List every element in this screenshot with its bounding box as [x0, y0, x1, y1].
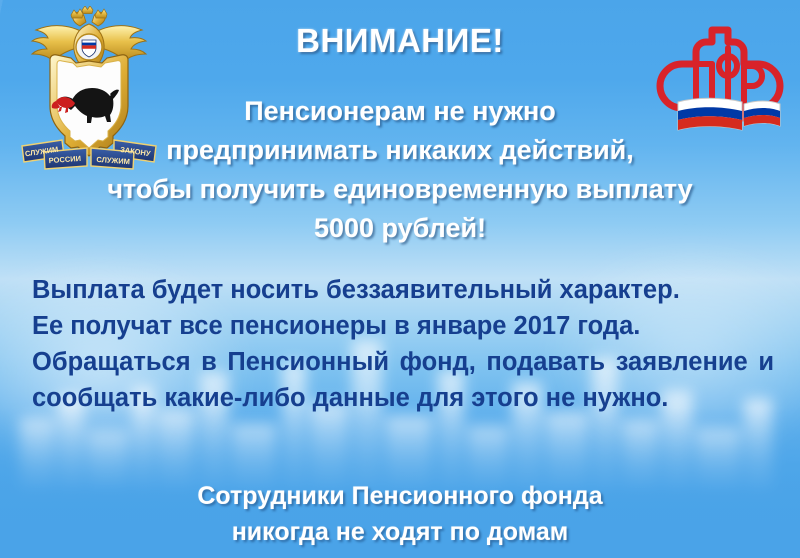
lead-line-3: чтобы получить единовременную выплату	[60, 170, 740, 209]
lead-line-1: Пенсионерам не нужно	[60, 92, 740, 131]
body-copy: Выплата будет носить беззаявительный хар…	[32, 272, 774, 416]
body-paragraph-3: Обращаться в Пенсионный фонд, подавать з…	[32, 344, 774, 416]
page-title: ВНИМАНИЕ!	[0, 22, 800, 60]
body-paragraph-2: Ее получат все пенсионеры в январе 2017 …	[32, 308, 774, 344]
lead-line-4: 5000 рублей!	[60, 209, 740, 248]
footer-line-2: никогда не ходят по домам	[0, 514, 800, 550]
footer-note: Сотрудники Пенсионного фонда никогда не …	[0, 478, 800, 550]
footer-line-1: Сотрудники Пенсионного фонда	[0, 478, 800, 514]
body-paragraph-1: Выплата будет носить беззаявительный хар…	[32, 272, 774, 308]
lead-message: Пенсионерам не нужно предпринимать никак…	[60, 92, 740, 248]
lead-line-2: предпринимать никаких действий,	[60, 131, 740, 170]
poster-canvas: СЛУЖИМ ЗАКОНУ РОССИИ СЛУЖИМ	[0, 0, 800, 558]
